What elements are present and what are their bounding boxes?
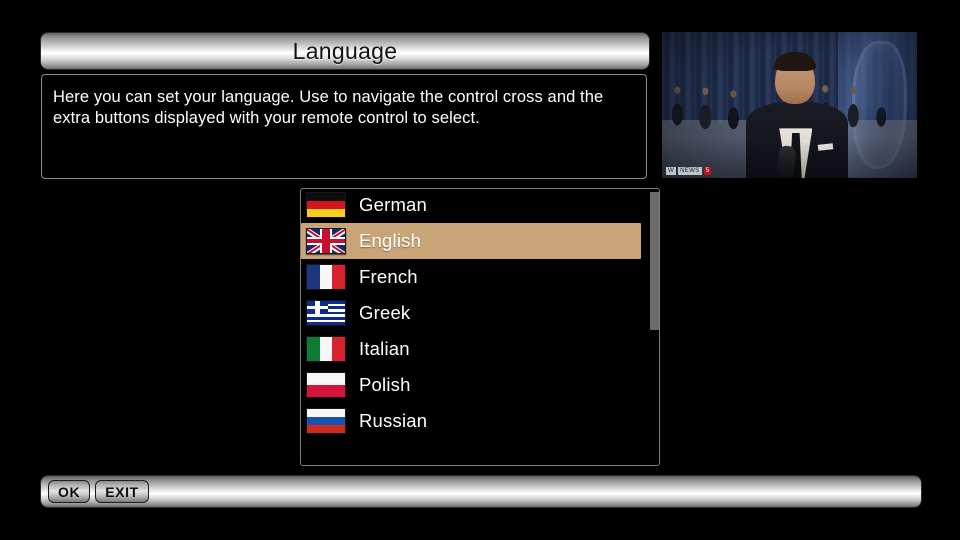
list-item-english[interactable]: English — [301, 223, 641, 259]
tv-settings-screen: Language Here you can set your language.… — [0, 0, 960, 540]
language-list-scrollbar-thumb[interactable] — [650, 192, 659, 330]
list-item-label: German — [359, 196, 427, 215]
page-title: Language — [293, 40, 398, 63]
language-list-panel[interactable]: German English French — [300, 188, 660, 466]
video-channel-watermark: W NEWS 5 — [666, 167, 711, 175]
watermark-part-3: 5 — [704, 167, 712, 175]
video-preview[interactable]: W NEWS 5 — [662, 32, 917, 178]
video-vignette — [662, 32, 917, 178]
watermark-part-1: W — [666, 167, 676, 175]
de-flag-icon — [306, 192, 346, 218]
help-description-text: Here you can set your language. Use to n… — [53, 87, 634, 129]
ok-button[interactable]: OK — [48, 480, 90, 503]
list-item-greek[interactable]: Greek — [301, 295, 651, 331]
pl-flag-icon — [306, 372, 346, 398]
list-item-label: English — [359, 232, 421, 251]
exit-button[interactable]: EXIT — [95, 480, 149, 503]
title-bar: Language — [41, 33, 649, 69]
help-description-box: Here you can set your language. Use to n… — [41, 74, 647, 179]
list-item-label: Italian — [359, 340, 410, 359]
fr-flag-icon — [306, 264, 346, 290]
gr-flag-icon — [306, 300, 346, 326]
ru-flag-icon — [306, 408, 346, 434]
list-item-label: Russian — [359, 412, 427, 431]
list-item-label: Greek — [359, 304, 410, 323]
list-item-label: Polish — [359, 376, 411, 395]
gb-flag-icon — [306, 228, 346, 254]
ok-button-label: OK — [58, 485, 80, 499]
list-item-label: French — [359, 268, 418, 287]
list-item-russian[interactable]: Russian — [301, 403, 651, 439]
list-item-french[interactable]: French — [301, 259, 651, 295]
list-item-german[interactable]: German — [301, 188, 651, 223]
list-item-polish[interactable]: Polish — [301, 367, 651, 403]
language-list-rows: German English French — [301, 188, 651, 439]
exit-button-label: EXIT — [105, 485, 139, 499]
bottom-button-bar: OK EXIT — [41, 476, 921, 507]
it-flag-icon — [306, 336, 346, 362]
watermark-part-2: NEWS — [678, 167, 702, 175]
list-item-italian[interactable]: Italian — [301, 331, 651, 367]
